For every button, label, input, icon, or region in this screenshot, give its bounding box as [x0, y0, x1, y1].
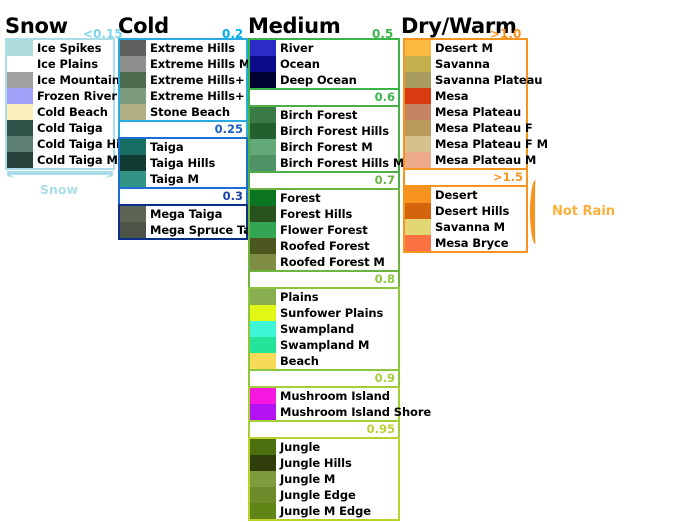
biome-name-label: Jungle Edge	[276, 487, 356, 503]
biome-color-swatch	[405, 136, 431, 152]
biome-name-label: Mushroom Island	[276, 388, 390, 404]
biome-row[interactable]: Taiga Hills	[120, 155, 246, 171]
biome-name-label: Mega Taiga	[146, 206, 222, 222]
biome-row[interactable]: Mesa Plateau F	[405, 120, 526, 136]
biome-color-swatch	[120, 40, 146, 56]
biome-row[interactable]: Mega Taiga	[120, 206, 246, 222]
biome-color-swatch	[120, 155, 146, 171]
biome-name-label: River	[276, 40, 313, 56]
biome-color-swatch	[120, 72, 146, 88]
biome-row[interactable]: Cold Beach	[7, 104, 113, 120]
biome-row[interactable]: Birch Forest Hills M	[250, 155, 398, 171]
biome-row[interactable]: Savanna Plateau	[405, 72, 526, 88]
biome-color-swatch	[250, 337, 276, 353]
biome-row[interactable]: Birch Forest M	[250, 139, 398, 155]
biome-group-drywarm-0: Desert MSavannaSavanna PlateauMesaMesa P…	[403, 38, 528, 170]
threshold-separator: 0.95	[248, 422, 400, 437]
biome-row[interactable]: Savanna	[405, 56, 526, 72]
biome-row[interactable]: Extreme Hills M	[120, 56, 246, 72]
biome-row[interactable]: Jungle Hills	[250, 455, 398, 471]
biome-row[interactable]: Savanna M	[405, 219, 526, 235]
biome-name-label: Birch Forest Hills M	[276, 155, 404, 171]
biome-color-swatch	[120, 88, 146, 104]
biome-row[interactable]: Birch Forest	[250, 107, 398, 123]
biome-name-label: Jungle M	[276, 471, 335, 487]
biome-color-swatch	[120, 56, 146, 72]
biome-name-label: Extreme Hills+ M	[146, 88, 260, 104]
biome-color-swatch	[405, 72, 431, 88]
not-rain-brace	[530, 180, 540, 244]
biome-color-swatch	[250, 155, 276, 171]
biome-group-medium-0: RiverOceanDeep Ocean	[248, 38, 400, 90]
biome-group-medium-3: PlainsSunfower PlainsSwamplandSwampland …	[248, 287, 400, 371]
biome-color-swatch	[405, 235, 431, 251]
biome-row[interactable]: Cold Taiga Hills	[7, 136, 113, 152]
biome-name-label: Swampland M	[276, 337, 369, 353]
biome-color-swatch	[405, 88, 431, 104]
biome-group-medium-1: Birch ForestBirch Forest HillsBirch Fore…	[248, 105, 400, 173]
biome-name-label: Taiga	[146, 139, 184, 155]
biome-name-label: Birch Forest M	[276, 139, 373, 155]
biome-row[interactable]: Plains	[250, 289, 398, 305]
biome-row[interactable]: Mesa Plateau F M	[405, 136, 526, 152]
biome-color-swatch	[250, 471, 276, 487]
threshold-value: 0.7	[375, 173, 395, 187]
biome-row[interactable]: Cold Taiga	[7, 120, 113, 136]
biome-row[interactable]: Swampland M	[250, 337, 398, 353]
biome-row[interactable]: Mushroom Island	[250, 388, 398, 404]
column-title-snow: Snow	[5, 14, 68, 38]
biome-row[interactable]: Ice Spikes	[7, 40, 113, 56]
biome-name-label: Mesa Bryce	[431, 235, 508, 251]
biome-row[interactable]: Desert M	[405, 40, 526, 56]
biome-row[interactable]: Deep Ocean	[250, 72, 398, 88]
threshold-separator: >1.5	[403, 170, 528, 185]
biome-row[interactable]: Ocean	[250, 56, 398, 72]
biome-color-swatch	[405, 187, 431, 203]
biome-name-label: Forest Hills	[276, 206, 352, 222]
biome-row[interactable]: Forest Hills	[250, 206, 398, 222]
biome-color-swatch	[250, 206, 276, 222]
biome-color-swatch	[250, 305, 276, 321]
biome-name-label: Mushroom Island Shore	[276, 404, 431, 420]
biome-group-cold-1: TaigaTaiga HillsTaiga M	[118, 137, 248, 189]
biome-name-label: Cold Beach	[33, 104, 108, 120]
biome-color-swatch	[7, 72, 33, 88]
biome-color-swatch	[120, 139, 146, 155]
biome-color-swatch	[7, 104, 33, 120]
threshold-value: >1.5	[493, 170, 523, 184]
biome-color-swatch	[7, 120, 33, 136]
threshold-separator: 0.3	[118, 189, 248, 204]
biome-name-label: Roofed Forest M	[276, 254, 385, 270]
biome-color-swatch	[405, 203, 431, 219]
threshold-separator: 0.25	[118, 122, 248, 137]
column-title-medium: Medium	[248, 14, 340, 38]
biome-row[interactable]: Jungle M	[250, 471, 398, 487]
threshold-value: 0.6	[375, 90, 395, 104]
biome-color-swatch	[120, 171, 146, 187]
biome-row[interactable]: Stone Beach	[120, 104, 246, 120]
biome-row[interactable]: Roofed Forest M	[250, 254, 398, 270]
biome-row[interactable]: Roofed Forest	[250, 238, 398, 254]
biome-name-label: Ocean	[276, 56, 320, 72]
biome-color-swatch	[250, 190, 276, 206]
biome-name-label: Beach	[276, 353, 319, 369]
biome-row[interactable]: Taiga	[120, 139, 246, 155]
snow-brace-label: Snow	[40, 182, 78, 197]
biome-name-label: Plains	[276, 289, 319, 305]
biome-color-swatch	[405, 152, 431, 168]
biome-name-label: Savanna Plateau	[431, 72, 542, 88]
biome-name-label: Ice Plains	[33, 56, 98, 72]
biome-color-swatch	[250, 222, 276, 238]
biome-color-swatch	[405, 219, 431, 235]
biome-name-label: Ice Spikes	[33, 40, 101, 56]
biome-name-label: Mesa Plateau F	[431, 120, 533, 136]
biome-color-swatch	[250, 123, 276, 139]
snow-brace	[7, 171, 113, 180]
biome-row[interactable]: Ice Mountains	[7, 72, 113, 88]
biome-row[interactable]: Mesa	[405, 88, 526, 104]
biome-name-label: Frozen River	[33, 88, 117, 104]
biome-name-label: Extreme Hills M	[146, 56, 250, 72]
biome-color-swatch	[405, 104, 431, 120]
biome-name-label: Desert	[431, 187, 478, 203]
biome-name-label: Flower Forest	[276, 222, 368, 238]
biome-color-swatch	[7, 136, 33, 152]
threshold-separator: 0.8	[248, 272, 400, 287]
biome-row[interactable]: Desert Hills	[405, 203, 526, 219]
biome-name-label: Forest	[276, 190, 321, 206]
threshold-value: 0.3	[223, 189, 243, 203]
biome-name-label: Mesa Plateau M	[431, 152, 536, 168]
biome-color-swatch	[250, 487, 276, 503]
biome-color-swatch	[250, 388, 276, 404]
not-rain-label: Not Rain	[552, 204, 615, 219]
biome-row[interactable]: Ice Plains	[7, 56, 113, 72]
biome-color-swatch	[120, 222, 146, 238]
biome-color-swatch	[7, 152, 33, 168]
biome-row[interactable]: Extreme Hills+ M	[120, 88, 246, 104]
biome-row[interactable]: Birch Forest Hills	[250, 123, 398, 139]
biome-color-swatch	[405, 40, 431, 56]
threshold-separator: 0.6	[248, 90, 400, 105]
biome-row[interactable]: Extreme Hills+	[120, 72, 246, 88]
biome-row[interactable]: Cold Taiga M	[7, 152, 113, 168]
biome-name-label: Savanna M	[431, 219, 505, 235]
biome-name-label: Sunfower Plains	[276, 305, 383, 321]
biome-color-swatch	[250, 72, 276, 88]
biome-color-swatch	[120, 104, 146, 120]
biome-name-label: Deep Ocean	[276, 72, 357, 88]
biome-color-swatch	[250, 455, 276, 471]
biome-row[interactable]: Extreme Hills	[120, 40, 246, 56]
biome-row[interactable]: Sunfower Plains	[250, 305, 398, 321]
column-title-cold: Cold	[118, 14, 169, 38]
biome-group-medium-2: ForestForest HillsFlower ForestRoofed Fo…	[248, 188, 400, 272]
biome-name-label: Roofed Forest	[276, 238, 370, 254]
biome-row[interactable]: Mesa Plateau	[405, 104, 526, 120]
biome-row[interactable]: River	[250, 40, 398, 56]
biome-name-label: Cold Taiga M	[33, 152, 118, 168]
biome-color-swatch	[405, 56, 431, 72]
biome-row[interactable]: Jungle M Edge	[250, 503, 398, 519]
biome-row[interactable]: Flower Forest	[250, 222, 398, 238]
biome-name-label: Extreme Hills+	[146, 72, 245, 88]
biome-color-swatch	[405, 120, 431, 136]
threshold-value: 0.25	[215, 122, 243, 136]
biome-color-swatch	[250, 321, 276, 337]
biome-group-cold-2: Mega TaigaMega Spruce Taiga	[118, 204, 248, 240]
biome-name-label: Jungle Hills	[276, 455, 352, 471]
biome-name-label: Desert Hills	[431, 203, 509, 219]
biome-name-label: Ice Mountains	[33, 72, 127, 88]
biome-name-label: Extreme Hills	[146, 40, 235, 56]
biome-row[interactable]: Mesa Plateau M	[405, 152, 526, 168]
threshold-separator: 0.9	[248, 371, 400, 386]
biome-color-swatch	[250, 238, 276, 254]
biome-row[interactable]: Jungle Edge	[250, 487, 398, 503]
biome-row[interactable]: Jungle	[250, 439, 398, 455]
biome-name-label: Jungle	[276, 439, 320, 455]
biome-color-swatch	[250, 139, 276, 155]
biome-group-drywarm-1: DesertDesert HillsSavanna MMesa Bryce	[403, 185, 528, 253]
biome-group-medium-5: JungleJungle HillsJungle MJungle EdgeJun…	[248, 437, 400, 521]
biome-name-label: Birch Forest	[276, 107, 357, 123]
biome-color-swatch	[7, 88, 33, 104]
biome-color-swatch	[250, 503, 276, 519]
threshold-value: 0.9	[375, 371, 395, 385]
biome-row[interactable]: Beach	[250, 353, 398, 369]
biome-group-medium-4: Mushroom IslandMushroom Island Shore	[248, 386, 400, 422]
biome-name-label: Jungle M Edge	[276, 503, 371, 519]
biome-color-swatch	[250, 439, 276, 455]
biome-name-label: Cold Taiga	[33, 120, 103, 136]
biome-row[interactable]: Mega Spruce Taiga	[120, 222, 246, 238]
biome-temperature-chart: { "columns": [ { "key": "snow", "title":…	[0, 0, 679, 522]
biome-row[interactable]: Mesa Bryce	[405, 235, 526, 251]
biome-name-label: Mesa Plateau F M	[431, 136, 548, 152]
threshold-value: 0.8	[375, 272, 395, 286]
biome-name-label: Mesa Plateau	[431, 104, 521, 120]
biome-name-label: Desert M	[431, 40, 493, 56]
biome-row[interactable]: Frozen River	[7, 88, 113, 104]
biome-row[interactable]: Taiga M	[120, 171, 246, 187]
threshold-value: 0.95	[367, 422, 395, 436]
biome-color-swatch	[250, 40, 276, 56]
biome-name-label: Taiga Hills	[146, 155, 215, 171]
biome-row[interactable]: Swampland	[250, 321, 398, 337]
biome-group-snow-0: Ice SpikesIce PlainsIce MountainsFrozen …	[5, 38, 115, 170]
biome-name-label: Swampland	[276, 321, 354, 337]
biome-row[interactable]: Mushroom Island Shore	[250, 404, 398, 420]
biome-name-label: Savanna	[431, 56, 490, 72]
biome-color-swatch	[120, 206, 146, 222]
biome-name-label: Mesa	[431, 88, 468, 104]
biome-name-label: Birch Forest Hills	[276, 123, 389, 139]
biome-color-swatch	[250, 254, 276, 270]
biome-color-swatch	[7, 40, 33, 56]
biome-name-label: Stone Beach	[146, 104, 230, 120]
biome-row[interactable]: Desert	[405, 187, 526, 203]
threshold-separator: 0.7	[248, 173, 400, 188]
biome-color-swatch	[7, 56, 33, 72]
biome-color-swatch	[250, 107, 276, 123]
biome-group-cold-0: Extreme HillsExtreme Hills MExtreme Hill…	[118, 38, 248, 122]
biome-row[interactable]: Forest	[250, 190, 398, 206]
biome-color-swatch	[250, 353, 276, 369]
biome-color-swatch	[250, 404, 276, 420]
biome-name-label: Taiga M	[146, 171, 199, 187]
biome-color-swatch	[250, 289, 276, 305]
biome-color-swatch	[250, 56, 276, 72]
